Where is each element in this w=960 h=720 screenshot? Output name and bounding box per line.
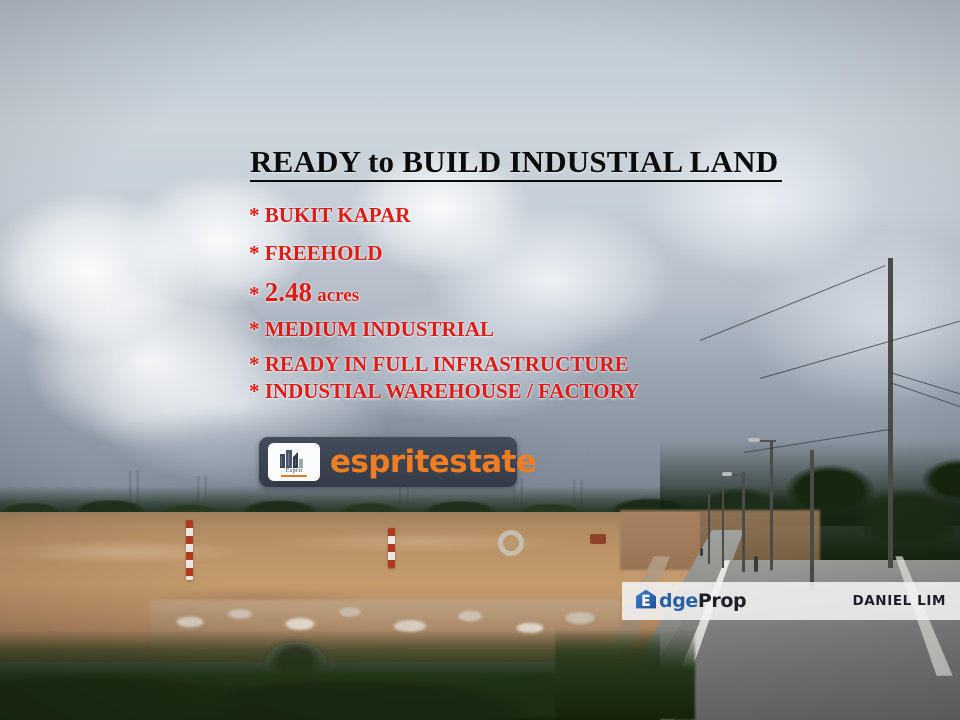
feature-item-usage: * INDUSTIAL WAREHOUSE / FACTORY: [249, 379, 639, 404]
area-unit: acres: [317, 285, 359, 306]
feature-item-area: * 2.48 acres: [249, 277, 639, 308]
esprit-badge-label: Esprit: [286, 467, 303, 474]
esprit-badge-icon: Esprit: [268, 443, 320, 481]
feature-item-zoning: * MEDIUM INDUSTRIAL: [249, 317, 639, 342]
edgeprop-logo[interactable]: dgeProp: [634, 587, 746, 616]
building-skyline-icon: [279, 448, 309, 468]
edgeprop-wordmark: dgeProp: [659, 592, 746, 611]
listing-banner: READY to BUILD INDUSTIAL LAND * BUKIT KA…: [0, 0, 960, 720]
espritestate-logo[interactable]: Esprit espritestate: [259, 437, 517, 487]
feature-item-location: * BUKIT KAPAR: [249, 203, 639, 228]
feature-item-tenure: * FREEHOLD: [249, 241, 639, 266]
feature-item-infrastructure: * READY IN FULL INFRASTRUCTURE: [249, 352, 639, 377]
feature-list: * BUKIT KAPAR * FREEHOLD * 2.48 acres * …: [249, 203, 639, 404]
edgeprop-word-dge: dge: [659, 590, 698, 612]
esprit-badge-rule: [281, 475, 307, 477]
espritestate-wordmark: espritestate: [330, 447, 536, 478]
area-bullet: *: [249, 282, 260, 306]
watermark-bar: dgeProp DANIEL LIM: [622, 582, 960, 620]
area-value: 2.48: [265, 277, 312, 307]
edgeprop-house-icon: [634, 587, 658, 616]
marketing-overlay: READY to BUILD INDUSTIAL LAND * BUKIT KA…: [0, 0, 960, 720]
title-underline: [250, 180, 782, 182]
page-title: READY to BUILD INDUSTIAL LAND: [250, 146, 778, 179]
edgeprop-word-prop: Prop: [698, 590, 746, 612]
agent-name: DANIEL LIM: [852, 593, 946, 609]
